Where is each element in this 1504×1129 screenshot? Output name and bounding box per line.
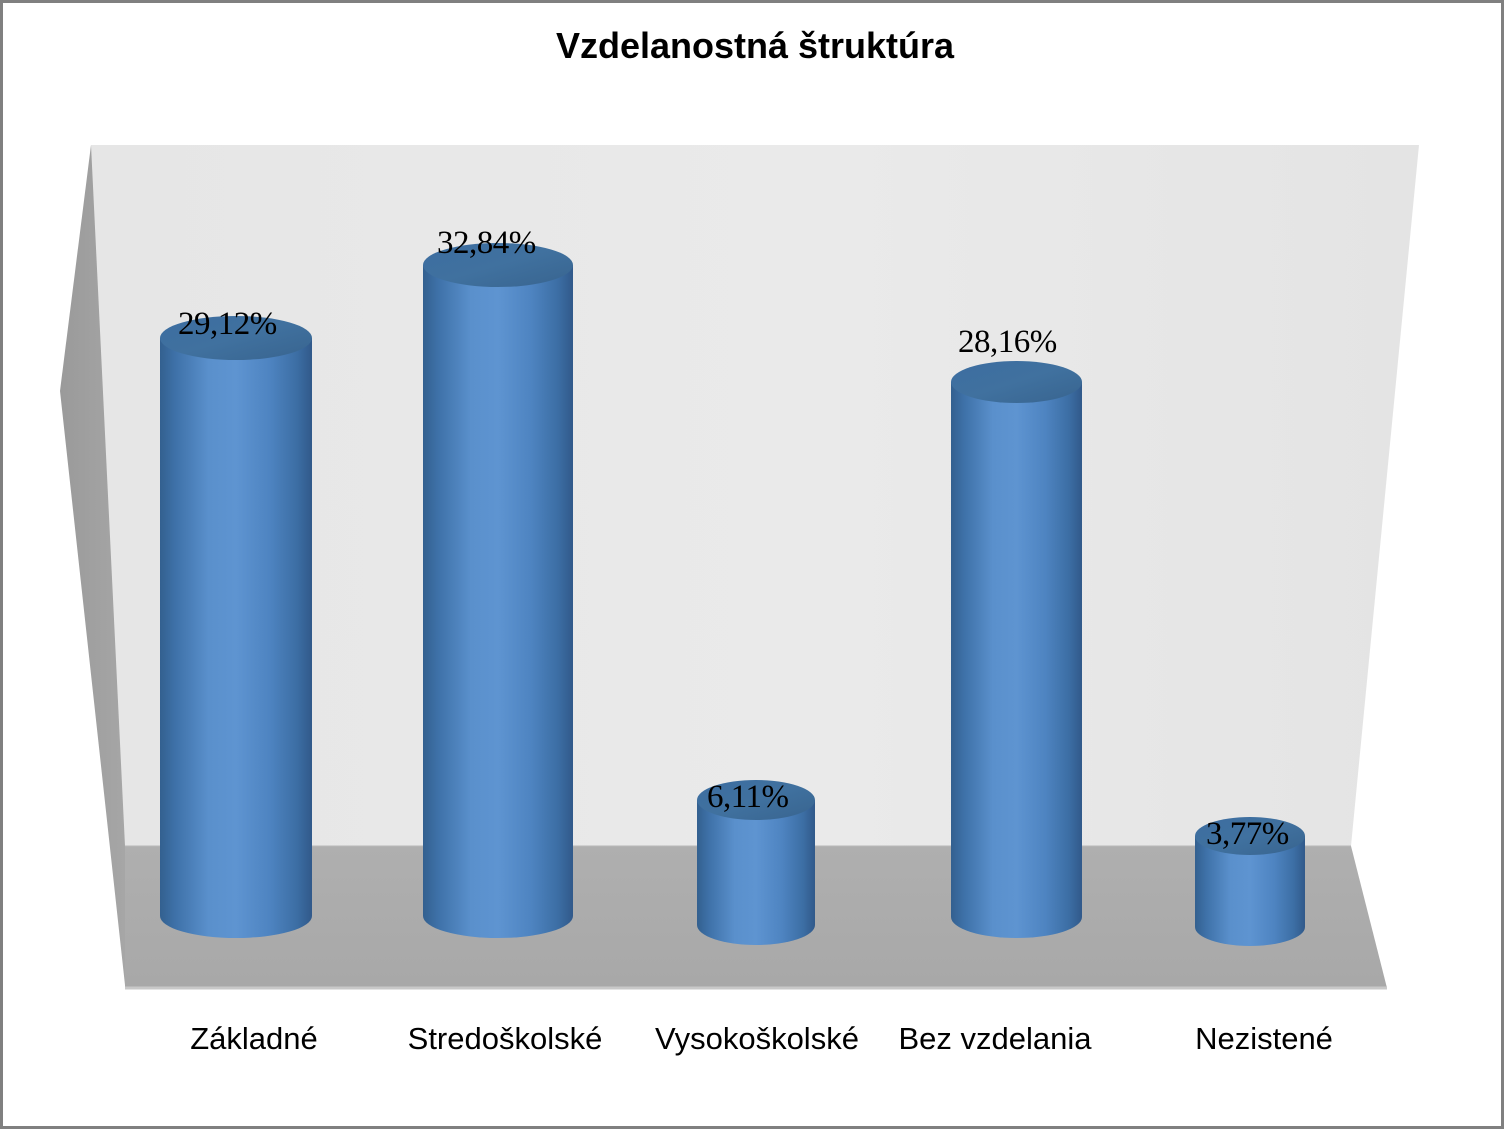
category-label-vysokoskolske: Vysokoškolské xyxy=(655,1021,859,1057)
category-label-stredoskolske: Stredoškolské xyxy=(408,1021,603,1057)
category-label-zakladne: Základné xyxy=(190,1021,318,1057)
category-axis: Základné Stredoškolské Vysokoškolské Bez… xyxy=(3,1021,1504,1077)
bars-layer: 29,12% xyxy=(3,3,1504,1129)
bar-stredoskolske[interactable] xyxy=(423,243,573,963)
category-label-nezistene: Nezistené xyxy=(1195,1021,1333,1057)
category-label-bez-vzdelania: Bez vzdelania xyxy=(898,1021,1091,1057)
bar-value-label-zakladne: 29,12% xyxy=(178,306,277,343)
bar-value-label-bez-vzdelania: 28,16% xyxy=(958,324,1057,361)
bar-zakladne[interactable] xyxy=(160,316,312,961)
bar-value-label-stredoskolske: 32,84% xyxy=(437,225,536,262)
bar-value-label-nezistene: 3,77% xyxy=(1206,816,1289,853)
bar-value-label-vysokoskolske: 6,11% xyxy=(707,779,789,816)
bar-bez-vzdelania[interactable] xyxy=(951,361,1082,961)
chart-canvas: Vzdelanostná štruktúra xyxy=(0,0,1504,1129)
